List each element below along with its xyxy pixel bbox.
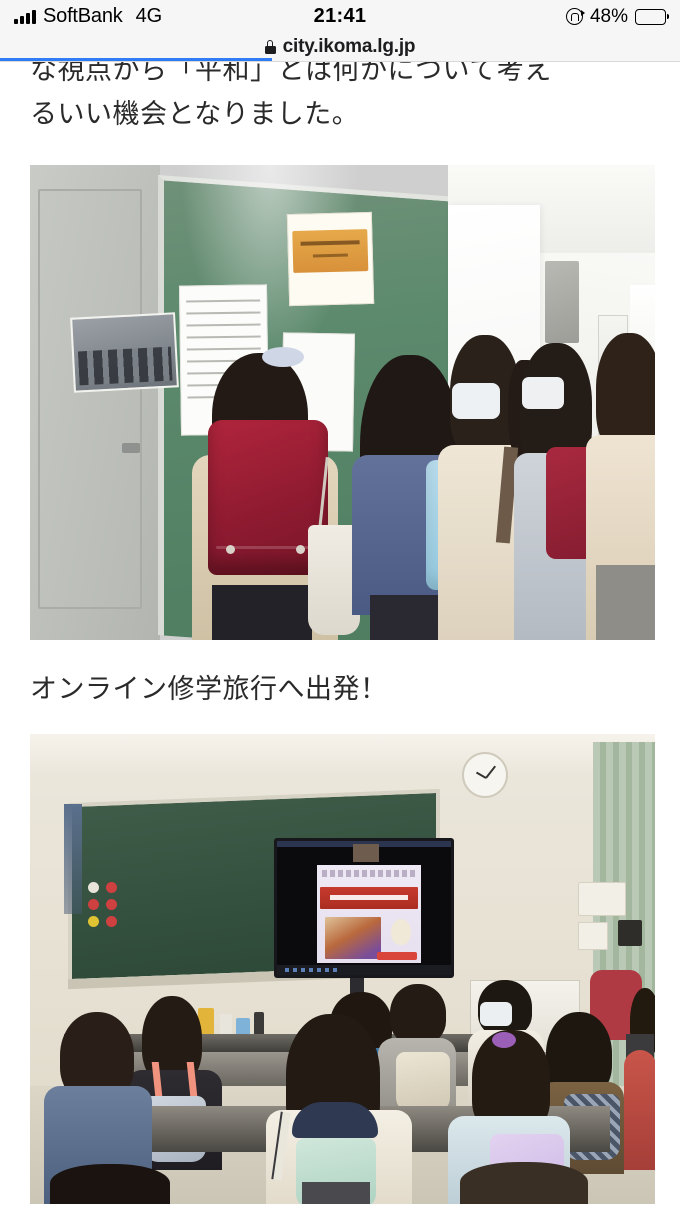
url-label: city.ikoma.lg.jp: [283, 36, 416, 58]
article-paragraph: な視点から「平和」とは何かについて考え るいい機会となりました。: [0, 62, 680, 137]
browser-chrome: SoftBank 4G 21:41 48% city.ikoma.lg.jp: [0, 0, 680, 62]
video-call-thumbnail: [353, 844, 379, 862]
battery-icon: [635, 9, 666, 25]
corridor-wall-photo: [70, 312, 179, 392]
battery-percent-label: 48%: [590, 6, 628, 28]
paragraph-line-1: な視点から「平和」とは何かについて考え: [30, 62, 650, 93]
photo1-caption: オンライン修学旅行へ出発！: [0, 670, 680, 710]
paragraph-line-2: るいい機会となりました。: [30, 99, 359, 130]
presentation-slide: [317, 865, 421, 963]
online-trip-poster: [287, 212, 374, 306]
magnet-set: [88, 882, 130, 930]
address-bar[interactable]: city.ikoma.lg.jp: [0, 33, 680, 61]
presentation-monitor: [274, 838, 454, 978]
students-in-corridor-photo: [30, 165, 655, 640]
otafuku-logo: [377, 952, 417, 960]
classroom-presentation-photo: [30, 734, 655, 1204]
page-load-progress-track: [0, 58, 680, 61]
lock-icon: [265, 40, 276, 54]
webpage-content: な視点から「平和」とは何かについて考え るいい機会となりました。: [0, 62, 680, 1209]
status-bar-right: 48%: [566, 0, 666, 33]
status-bar: SoftBank 4G 21:41 48%: [0, 0, 680, 33]
wall-clock: [462, 752, 508, 798]
page-load-progress-bar: [0, 58, 272, 61]
rotation-lock-icon: [566, 8, 583, 25]
clock-label: 21:41: [314, 5, 367, 28]
